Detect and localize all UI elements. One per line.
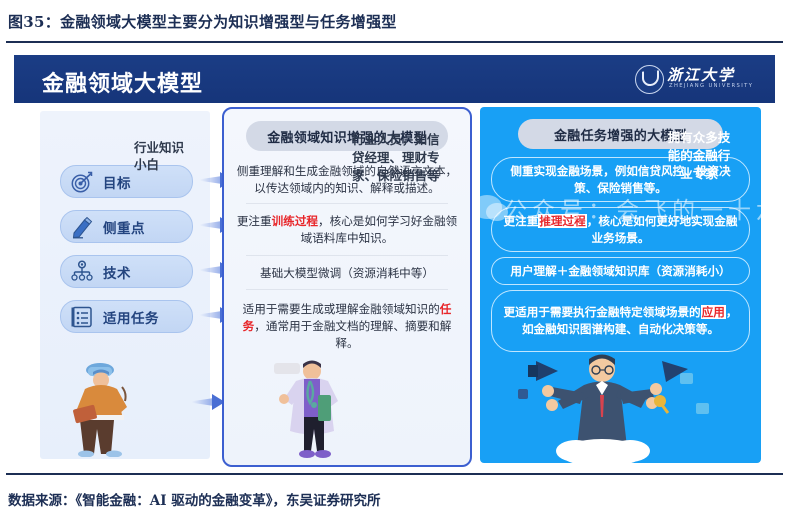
wechat-icon — [480, 195, 502, 219]
middle-persona-label: 行业人员，如信贷经理、理财专家、保险销售等 — [352, 131, 440, 185]
right-column-panel: 金融任务增强的大模型 侧重实现金融场景，例如信贷风控、投资决策、保险销售等。 更… — [480, 107, 761, 463]
left-persona-label: 行业知识小白 — [134, 139, 186, 173]
watermark-text: 公众号：会飞的一十六 — [504, 191, 761, 225]
checklist-icon — [70, 305, 94, 329]
persona-novice-illustration — [52, 361, 200, 457]
university-name: 浙江大学 — [667, 64, 735, 85]
university-name-en: ZHEJIANG UNIVERSITY — [669, 83, 753, 89]
left-item-tasks[interactable]: 适用任务 — [60, 300, 193, 333]
zhejiang-university-logo: 浙江大学 ZHEJIANG UNIVERSITY — [635, 63, 761, 95]
source-note: 数据来源：《智能金融：AI 驱动的金融变革》，东吴证券研究所 — [8, 489, 768, 511]
divider — [246, 289, 448, 290]
target-icon — [70, 170, 94, 194]
arrow-icon — [192, 394, 226, 410]
figure-container: 金融领域大模型 浙江大学 ZHEJIANG UNIVERSITY — [14, 55, 775, 467]
org-network-icon — [70, 260, 94, 284]
left-item-label: 侧重点 — [103, 217, 145, 237]
left-item-label: 适用任务 — [103, 307, 159, 327]
right-row-technology: 用户理解＋金融领域知识库（资源消耗小） — [491, 257, 750, 285]
middle-column-panel: 金融领域知识增强的大模型 侧重理解和生成金融领域的自然语言文本，以传达领域内的知… — [222, 107, 472, 467]
middle-row-technology: 基础大模型微调（资源消耗中等） — [234, 265, 460, 282]
left-item-label: 目标 — [103, 172, 131, 192]
middle-row-focus: 更注重训练过程，核心是如何学习好金融领域语料库中知识。 — [234, 213, 460, 247]
caption-rule — [6, 41, 783, 43]
left-column-panel: 目标 侧重点 — [40, 111, 210, 459]
persona-expert-illustration — [484, 343, 760, 463]
divider — [246, 255, 448, 256]
persona-professional-illustration — [238, 355, 460, 461]
figure-caption: 图35：金融领域大模型主要分为知识增强型与任务增强型 — [8, 11, 768, 37]
right-persona-label: 拥有众多技能的金融行业专家 — [662, 129, 736, 183]
figure-body: 目标 侧重点 — [14, 103, 775, 467]
left-item-label: 技术 — [103, 262, 131, 282]
figure-header-title: 金融领域大模型 — [42, 66, 203, 98]
figure-header-bar: 金融领域大模型 浙江大学 ZHEJIANG UNIVERSITY — [14, 55, 775, 103]
pencil-icon — [70, 215, 94, 239]
divider — [246, 203, 448, 204]
source-rule — [6, 473, 783, 475]
middle-row-tasks: 适用于需要生成或理解金融领域知识的任务，通常用于金融文档的理解、摘要和解释。 — [234, 301, 460, 352]
left-item-focus[interactable]: 侧重点 — [60, 210, 193, 243]
left-item-technology[interactable]: 技术 — [60, 255, 193, 288]
university-seal-icon — [635, 65, 664, 94]
